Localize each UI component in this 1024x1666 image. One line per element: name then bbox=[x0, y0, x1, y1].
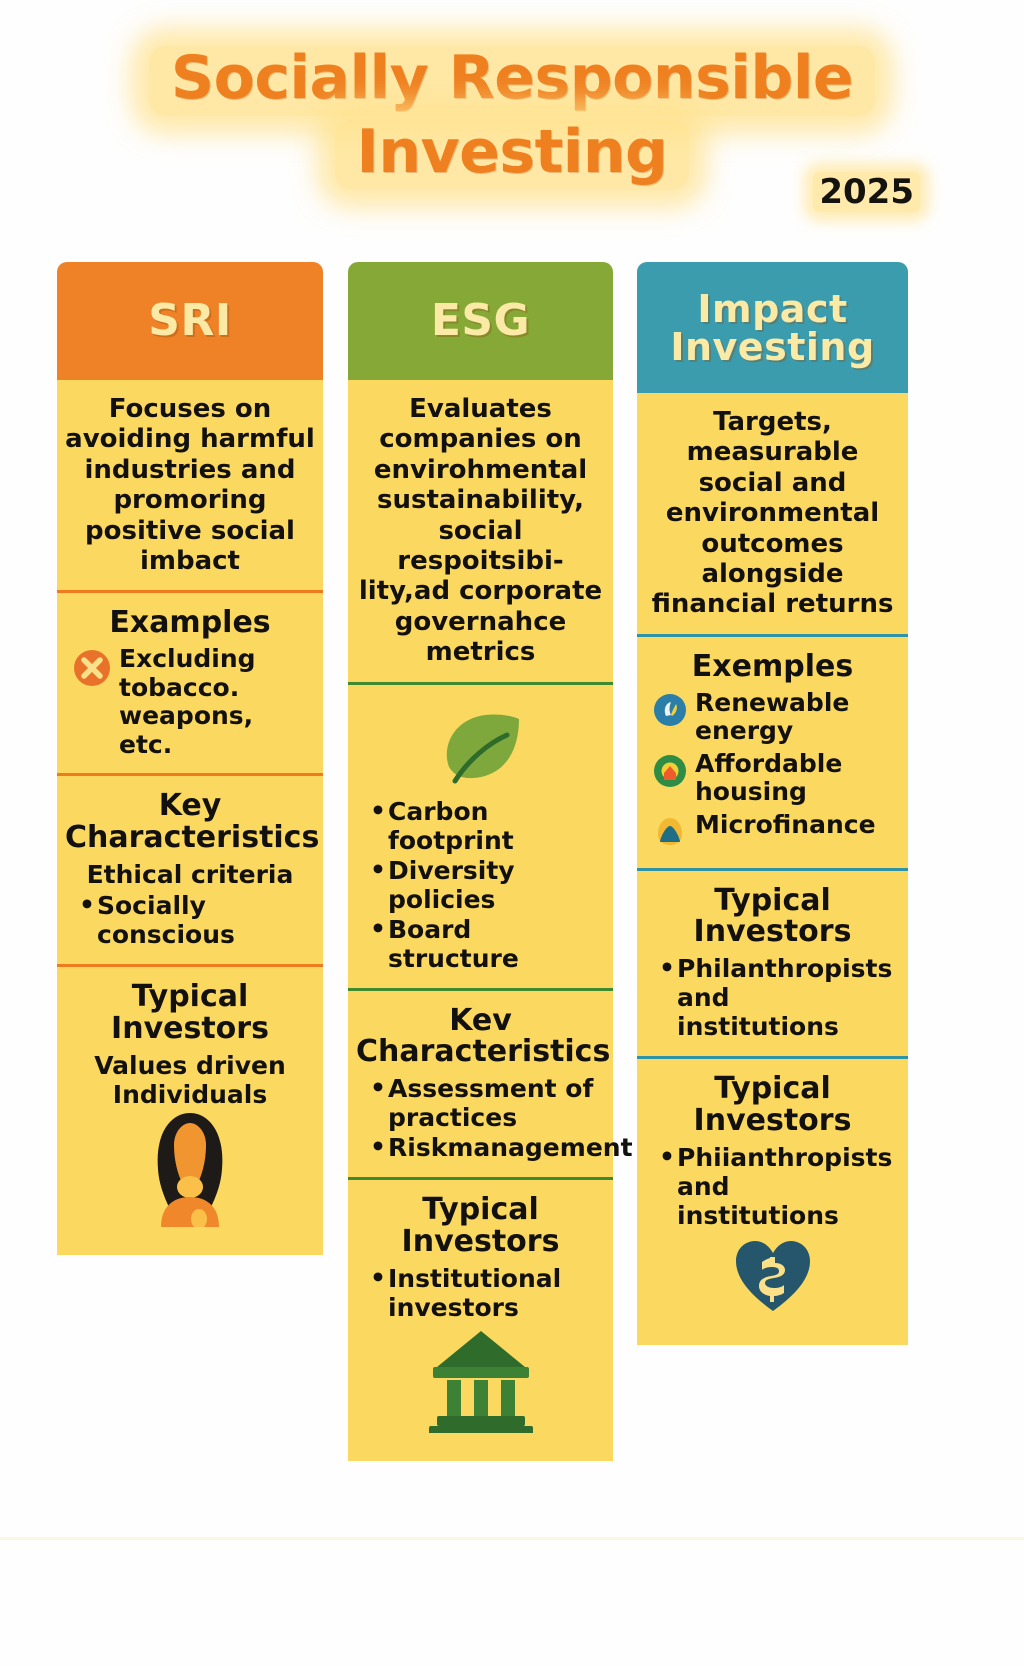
list-item: Phiianthropists and institutions bbox=[659, 1143, 900, 1230]
esg-keychar-bullets: Assessment of practices Riskmanagement bbox=[356, 1074, 605, 1162]
affordable-housing-icon bbox=[653, 754, 687, 793]
column-header-sri: SRI bbox=[57, 262, 323, 380]
esg-card-footer bbox=[348, 1447, 613, 1461]
list-item: Microfinance bbox=[645, 811, 900, 854]
microfinance-icon bbox=[653, 815, 687, 854]
list-item: Riskmanagement bbox=[370, 1133, 605, 1162]
esg-investors-bullets: Institutional investors bbox=[356, 1264, 605, 1322]
list-item: Carbon footprint bbox=[370, 797, 605, 855]
leaf-icon bbox=[356, 699, 605, 795]
person-avatar-icon bbox=[65, 1109, 315, 1227]
section-sri-key-characteristics: Key Characteristics Ethical criteria Soc… bbox=[57, 773, 323, 964]
list-item: Philanthropists and institutions bbox=[659, 954, 900, 1041]
list-item: Excluding tobacco. weapons, etc. bbox=[65, 645, 315, 759]
sri-keychar-lead: Ethical criteria bbox=[65, 860, 315, 889]
list-item: Institutional investors bbox=[370, 1264, 605, 1322]
comparison-board: SRI Focuses on avoiding harmful industri… bbox=[0, 262, 1024, 1537]
impact-investors-heading-2: Typical Investors bbox=[645, 1073, 900, 1137]
sri-example-text: Excluding tobacco. weapons, etc. bbox=[119, 645, 315, 759]
impact-investors-heading-1: Typical Investors bbox=[645, 885, 900, 949]
title-line-1: Socially Responsible bbox=[149, 46, 875, 116]
section-impact-definition: Targets, measurable social and environme… bbox=[637, 393, 908, 634]
section-esg-definition: Evaluates companies on envirohmental sus… bbox=[348, 380, 613, 682]
title-line-2: Investing bbox=[335, 120, 690, 190]
list-item: Diversity policies bbox=[370, 856, 605, 914]
section-impact-typical-investors-1: Typical Investors Philanthropists and in… bbox=[637, 868, 908, 1057]
list-item: Board structure bbox=[370, 915, 605, 973]
list-item: Renewable energy bbox=[645, 689, 900, 746]
column-body-impact: Targets, measurable social and environme… bbox=[637, 393, 908, 1345]
page-baseline bbox=[0, 1537, 1024, 1540]
list-item: Affordable housing bbox=[645, 750, 900, 807]
impact-investors-bullets-2: Phiianthropists and institutions bbox=[645, 1143, 900, 1230]
esg-definition-text: Evaluates companies on envirohmental sus… bbox=[356, 394, 605, 668]
section-impact-typical-investors-2: Typical Investors Phiianthropists and in… bbox=[637, 1056, 908, 1331]
bank-building-icon bbox=[356, 1323, 605, 1433]
impact-example-text: Affordable housing bbox=[695, 750, 900, 807]
list-item: Socially conscious bbox=[79, 891, 315, 949]
sri-keychar-heading: Key Characteristics bbox=[65, 790, 315, 854]
impact-examples-heading: Exemples bbox=[645, 651, 900, 683]
esg-example-bullets: Carbon footprint Diversity policies Boar… bbox=[356, 797, 605, 973]
section-esg-examples: Carbon footprint Diversity policies Boar… bbox=[348, 682, 613, 988]
sri-investors-lead: Values driven Individuals bbox=[65, 1051, 315, 1110]
sri-definition-text: Focuses on avoiding harmful industries a… bbox=[65, 394, 315, 576]
year-badge: 2025 bbox=[813, 172, 920, 212]
section-impact-examples: Exemples Renewable energy bbox=[637, 634, 908, 868]
impact-investors-bullets-1: Philanthropists and institutions bbox=[645, 954, 900, 1041]
column-header-impact: Impact Investing bbox=[637, 262, 908, 393]
section-sri-definition: Focuses on avoiding harmful industries a… bbox=[57, 380, 323, 590]
section-esg-typical-investors: Typical Investors Institutional investor… bbox=[348, 1177, 613, 1447]
section-esg-key-characteristics: Kev Characteristics Assessment of practi… bbox=[348, 988, 613, 1178]
renewable-energy-icon bbox=[653, 693, 687, 732]
page-title: Socially Responsible Investing bbox=[0, 46, 1024, 190]
sri-card-footer bbox=[57, 1241, 323, 1255]
esg-investors-heading: Typical Investors bbox=[356, 1194, 605, 1258]
esg-keychar-heading: Kev Characteristics bbox=[356, 1005, 605, 1069]
column-body-sri: Focuses on avoiding harmful industries a… bbox=[57, 380, 323, 1255]
sri-keychar-bullets: Socially conscious bbox=[65, 891, 315, 949]
sri-examples-heading: Examples bbox=[65, 607, 315, 639]
column-header-esg: ESG bbox=[348, 262, 613, 380]
exclude-circle-x-icon bbox=[73, 649, 111, 692]
column-body-esg: Evaluates companies on envirohmental sus… bbox=[348, 380, 613, 1461]
column-esg: ESG Evaluates companies on envirohmental… bbox=[348, 262, 613, 1461]
sri-investors-heading: Typical Investors bbox=[65, 981, 315, 1045]
column-sri: SRI Focuses on avoiding harmful industri… bbox=[57, 262, 323, 1255]
impact-example-text: Microfinance bbox=[695, 811, 876, 840]
section-sri-typical-investors: Typical Investors Values driven Individu… bbox=[57, 964, 323, 1241]
list-item: Assessment of practices bbox=[370, 1074, 605, 1132]
impact-definition-text: Targets, measurable social and environme… bbox=[645, 407, 900, 620]
impact-example-text: Renewable energy bbox=[695, 689, 900, 746]
column-impact-investing: Impact Investing Targets, measurable soc… bbox=[637, 262, 908, 1345]
section-sri-examples: Examples Excluding tobacco. weapons, etc… bbox=[57, 590, 323, 773]
heart-dollar-icon bbox=[645, 1231, 900, 1317]
impact-card-footer bbox=[637, 1331, 908, 1345]
